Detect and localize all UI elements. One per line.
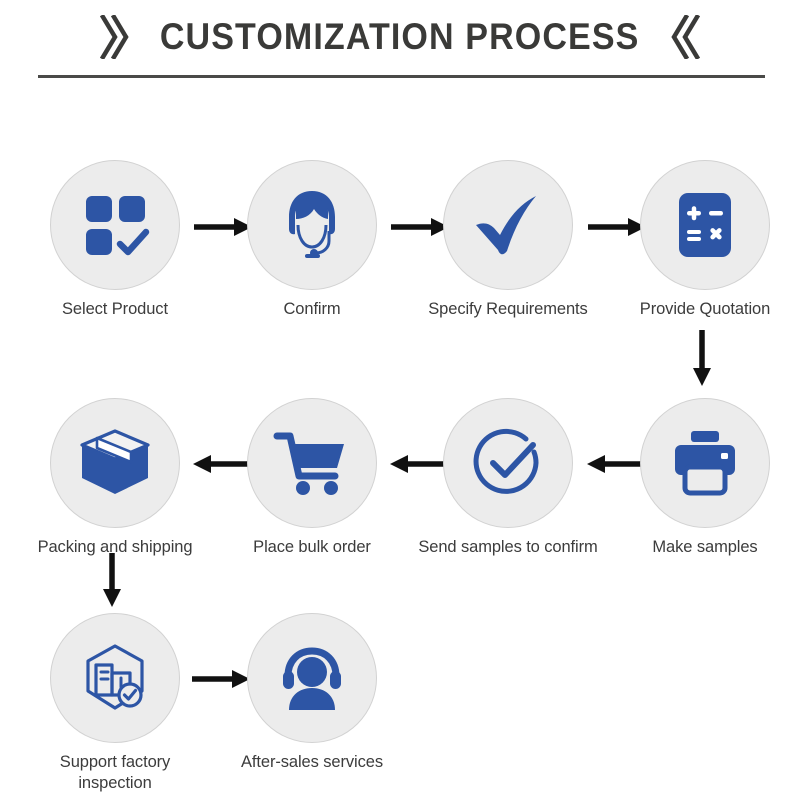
flow-step-label: Select Product <box>20 299 210 320</box>
step-icon-circle <box>50 160 180 290</box>
step-icon-circle <box>50 398 180 528</box>
flow-step-label: Support factory inspection <box>20 752 210 794</box>
step-icon-circle <box>443 398 573 528</box>
flow-step-packing-and-shipping[interactable]: Packing and shipping <box>20 398 210 558</box>
arrow-down-icon-r2-r3 <box>100 551 124 611</box>
flow-step-label: Specify Requirements <box>413 299 603 320</box>
flow-step-specify-requirements[interactable]: Specify Requirements <box>413 160 603 320</box>
flow-step-confirm[interactable]: Confirm <box>217 160 407 320</box>
arrow-down-icon-r1-r2 <box>690 328 714 388</box>
step-icon-circle <box>640 398 770 528</box>
flow-step-after-sales-services[interactable]: After-sales services <box>217 613 407 773</box>
operator-headset-icon <box>272 185 352 265</box>
flow-step-label: Confirm <box>217 299 407 320</box>
flow-step-label: After-sales services <box>217 752 407 773</box>
calculator-icon <box>669 189 741 261</box>
step-icon-circle <box>50 613 180 743</box>
step-icon-circle <box>247 160 377 290</box>
step-icon-circle <box>443 160 573 290</box>
flow-step-select-product[interactable]: Select Product <box>20 160 210 320</box>
shopping-cart-icon <box>273 424 351 502</box>
shield-factory-check-icon <box>76 639 154 717</box>
flow-step-place-bulk-order[interactable]: Place bulk order <box>217 398 407 558</box>
headset-person-icon <box>274 640 350 716</box>
step-icon-circle <box>247 398 377 528</box>
flow-step-make-samples[interactable]: Make samples <box>610 398 800 558</box>
flow-step-send-samples-to-confirm[interactable]: Send samples to confirm <box>413 398 603 558</box>
process-flow: Select Product Confirm <box>0 0 800 800</box>
flow-step-label: Make samples <box>610 537 800 558</box>
grid-check-icon <box>78 188 152 262</box>
step-icon-circle <box>247 613 377 743</box>
flow-step-label: Send samples to confirm <box>413 537 603 558</box>
circle-check-icon <box>470 425 546 501</box>
flow-step-label: Place bulk order <box>217 537 407 558</box>
checkmark-icon <box>470 187 546 263</box>
flow-step-support-factory-inspection[interactable]: Support factory inspection <box>20 613 210 794</box>
flow-step-label: Provide Quotation <box>610 299 800 320</box>
printer-icon <box>667 425 743 501</box>
flow-step-provide-quotation[interactable]: Provide Quotation <box>610 160 800 320</box>
shipping-box-icon <box>76 424 154 502</box>
step-icon-circle <box>640 160 770 290</box>
